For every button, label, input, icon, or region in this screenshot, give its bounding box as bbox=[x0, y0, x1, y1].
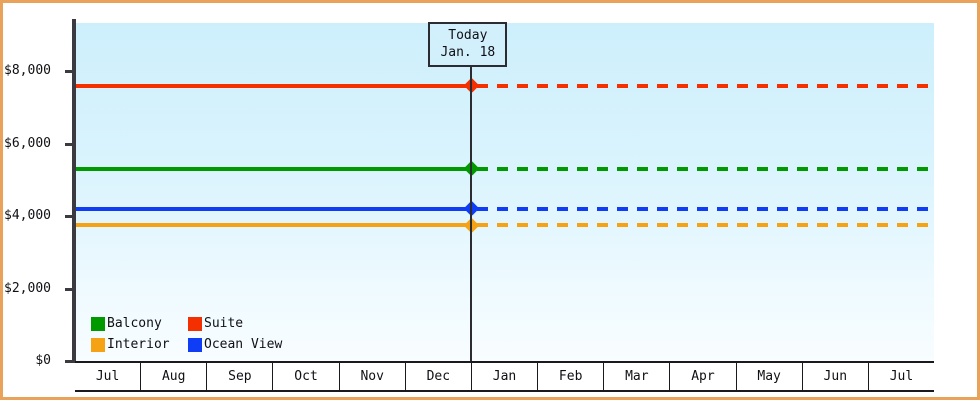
legend-label: Suite bbox=[204, 313, 243, 334]
x-axis-month-cell[interactable]: Mar bbox=[604, 363, 670, 390]
legend-swatch-icon bbox=[188, 338, 202, 352]
legend-swatch-icon bbox=[91, 338, 105, 352]
x-axis-month-cell[interactable]: Jun bbox=[803, 363, 869, 390]
y-axis-label: $4,000 bbox=[4, 208, 51, 223]
series-layer bbox=[75, 23, 934, 361]
y-axis-label: $6,000 bbox=[4, 136, 51, 151]
series-line-solid bbox=[75, 223, 471, 227]
x-axis-month-cell[interactable]: Oct bbox=[273, 363, 339, 390]
x-axis-month-cell[interactable]: Feb bbox=[538, 363, 604, 390]
legend-item-ocean-view[interactable]: Ocean View bbox=[188, 334, 282, 355]
legend-label: Balcony bbox=[107, 313, 162, 334]
today-callout-box: Today Jan. 18 bbox=[428, 22, 507, 67]
legend-row: InteriorOcean View bbox=[91, 334, 282, 355]
y-axis-tick bbox=[65, 215, 74, 218]
legend-label: Interior bbox=[107, 334, 170, 355]
x-axis-month-cells: JulAugSepOctNovDecJanFebMarAprMayJunJul bbox=[75, 361, 934, 392]
series-line-dashed-forecast bbox=[477, 167, 934, 171]
y-axis-tick bbox=[65, 70, 74, 73]
x-axis-month-cell[interactable]: Apr bbox=[670, 363, 736, 390]
y-axis-tick bbox=[65, 288, 74, 291]
y-axis-tick bbox=[65, 360, 74, 363]
today-callout-line1: Today bbox=[440, 27, 495, 44]
series-line-dashed-forecast bbox=[477, 207, 934, 211]
y-axis-label: $8,000 bbox=[4, 63, 51, 78]
series-line-solid bbox=[75, 84, 471, 88]
legend-swatch-icon bbox=[188, 317, 202, 331]
y-axis-tick bbox=[65, 143, 74, 146]
legend-item-interior[interactable]: Interior bbox=[91, 334, 188, 355]
series-line-dashed-forecast bbox=[477, 84, 934, 88]
chart-frame: $0$2,000$4,000$6,000$8,000 Today Jan. 18… bbox=[0, 0, 980, 400]
legend-item-suite[interactable]: Suite bbox=[188, 313, 243, 334]
x-axis-month-cell[interactable]: Sep bbox=[207, 363, 273, 390]
x-axis-month-cell[interactable]: Jul bbox=[869, 363, 934, 390]
legend-row: BalconySuite bbox=[91, 313, 282, 334]
today-vertical-line bbox=[470, 23, 472, 361]
series-line-solid bbox=[75, 207, 471, 211]
plot-area bbox=[75, 23, 934, 361]
x-axis-month-cell[interactable]: Dec bbox=[406, 363, 472, 390]
chart-legend: BalconySuiteInteriorOcean View bbox=[91, 313, 282, 355]
series-line-solid bbox=[75, 167, 471, 171]
legend-label: Ocean View bbox=[204, 334, 282, 355]
y-axis-label: $0 bbox=[35, 353, 51, 368]
today-callout-line2: Jan. 18 bbox=[440, 44, 495, 61]
x-axis-month-cell[interactable]: May bbox=[737, 363, 803, 390]
x-axis-month-cell[interactable]: Jan bbox=[472, 363, 538, 390]
x-axis-month-cell[interactable]: Aug bbox=[141, 363, 207, 390]
y-axis-label: $2,000 bbox=[4, 281, 51, 296]
legend-item-balcony[interactable]: Balcony bbox=[91, 313, 188, 334]
x-axis-month-cell[interactable]: Jul bbox=[75, 363, 141, 390]
x-axis-month-cell[interactable]: Nov bbox=[340, 363, 406, 390]
legend-swatch-icon bbox=[91, 317, 105, 331]
series-line-dashed-forecast bbox=[477, 223, 934, 227]
